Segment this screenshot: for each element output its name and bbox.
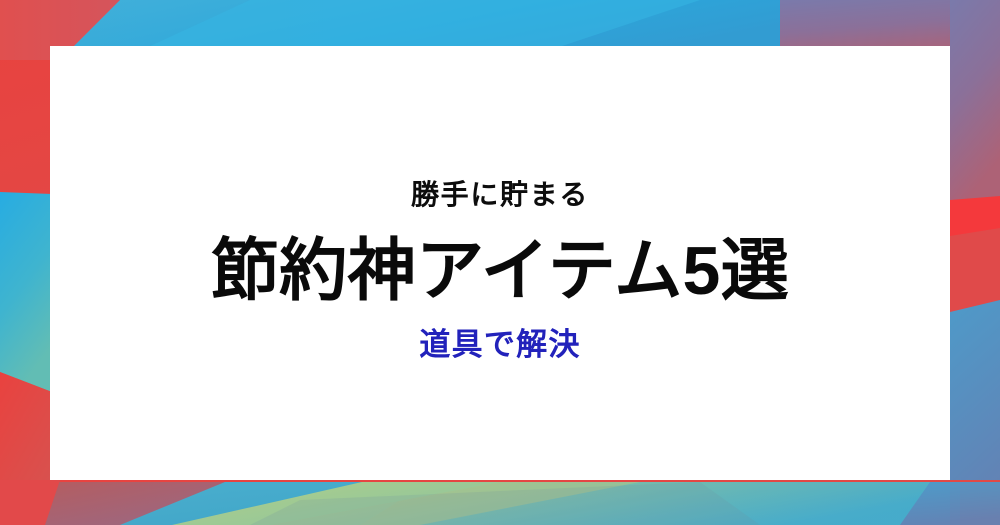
eyebrow-text: 勝手に貯まる: [74, 180, 926, 211]
bg-right-red-shade: [950, 228, 1000, 312]
headline-title: 節約神アイテム5選: [74, 237, 926, 306]
tagline-text: 道具で解決: [74, 328, 926, 362]
thumbnail-canvas: 勝手に貯まる 節約神アイテム5選 道具で解決: [0, 0, 1000, 525]
bg-left-cyan-band: [0, 192, 52, 392]
content-card: 勝手に貯まる 節約神アイテム5選 道具で解決: [50, 46, 950, 480]
bg-right-purple-strip: [950, 0, 1000, 202]
card-inner: 勝手に貯まる 節約神アイテム5選 道具で解決: [74, 180, 926, 362]
